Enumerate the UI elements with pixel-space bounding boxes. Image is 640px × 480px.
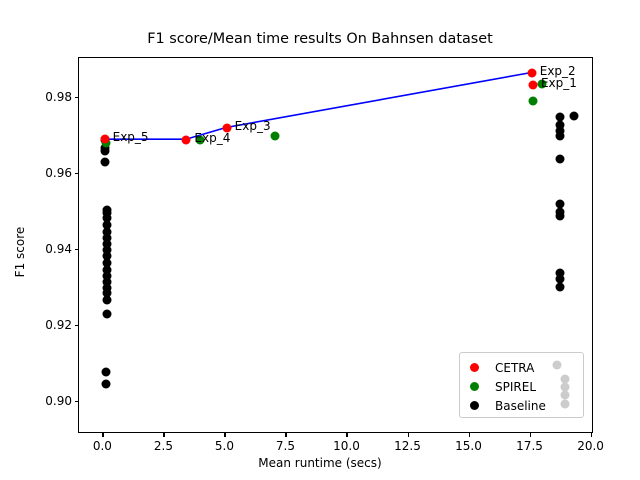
legend-label: CETRA [495, 361, 534, 375]
y-tick-label: 0.96 [45, 166, 72, 180]
data-point-baseline [555, 283, 564, 292]
x-tick-mark [469, 433, 470, 437]
x-tick-mark [224, 433, 225, 437]
data-point-baseline [100, 157, 109, 166]
x-tick-mark [346, 433, 347, 437]
legend-item-baseline[interactable]: Baseline [460, 396, 583, 415]
data-point-cetra [182, 135, 191, 144]
x-tick-mark [102, 433, 103, 437]
x-tick-label: 2.5 [154, 439, 173, 453]
x-tick-label: 17.5 [516, 439, 543, 453]
annotation-exp_5: Exp_5 [113, 130, 149, 144]
legend-swatch-baseline-icon [470, 401, 479, 410]
x-tick-label: 12.5 [394, 439, 421, 453]
y-tick-mark [75, 97, 79, 98]
x-tick-label: 10.0 [333, 439, 360, 453]
annotation-exp_3: Exp_3 [235, 119, 271, 133]
x-tick-mark [163, 433, 164, 437]
y-tick-label: 0.90 [45, 394, 72, 408]
legend-box[interactable]: CETRASPIRELBaseline [459, 352, 584, 418]
y-tick-mark [75, 325, 79, 326]
y-tick-label: 0.94 [45, 242, 72, 256]
data-point-baseline [103, 309, 112, 318]
data-point-baseline [103, 295, 112, 304]
chart-title: F1 score/Mean time results On Bahnsen da… [0, 31, 640, 47]
data-point-spirel [528, 96, 537, 105]
x-tick-label: 7.5 [276, 439, 295, 453]
data-point-cetra [527, 68, 536, 77]
x-tick-mark [530, 433, 531, 437]
legend-item-spirel[interactable]: SPIREL [460, 377, 583, 396]
annotation-exp_4: Exp_4 [194, 131, 230, 145]
y-tick-mark [75, 401, 79, 402]
data-point-baseline [101, 380, 110, 389]
legend-swatch-cetra-icon [470, 363, 479, 372]
data-point-baseline [101, 368, 110, 377]
data-point-cetra [100, 134, 109, 143]
legend-label: Baseline [495, 399, 546, 413]
data-point-baseline [555, 154, 564, 163]
x-tick-label: 20.0 [577, 439, 604, 453]
data-point-spirel [271, 131, 280, 140]
x-tick-mark [285, 433, 286, 437]
data-point-baseline [555, 131, 564, 140]
legend-item-cetra[interactable]: CETRA [460, 358, 583, 377]
data-point-baseline [555, 211, 564, 220]
data-point-cetra [528, 80, 537, 89]
y-axis-label: F1 score [13, 152, 27, 352]
data-point-baseline [100, 147, 109, 156]
y-tick-label: 0.92 [45, 318, 72, 332]
data-point-baseline [570, 112, 579, 121]
annotation-exp_1: Exp_1 [541, 76, 577, 90]
figure-canvas: F1 score/Mean time results On Bahnsen da… [0, 0, 640, 480]
legend-swatch-spirel-icon [470, 382, 479, 391]
legend-label: SPIREL [495, 380, 536, 394]
y-tick-label: 0.98 [45, 90, 72, 104]
x-axis-label: Mean runtime (secs) [0, 456, 640, 470]
y-tick-mark [75, 173, 79, 174]
x-tick-label: 0.0 [93, 439, 112, 453]
y-tick-mark [75, 249, 79, 250]
x-tick-mark [408, 433, 409, 437]
x-tick-label: 5.0 [215, 439, 234, 453]
x-tick-label: 15.0 [455, 439, 482, 453]
x-tick-mark [591, 433, 592, 437]
